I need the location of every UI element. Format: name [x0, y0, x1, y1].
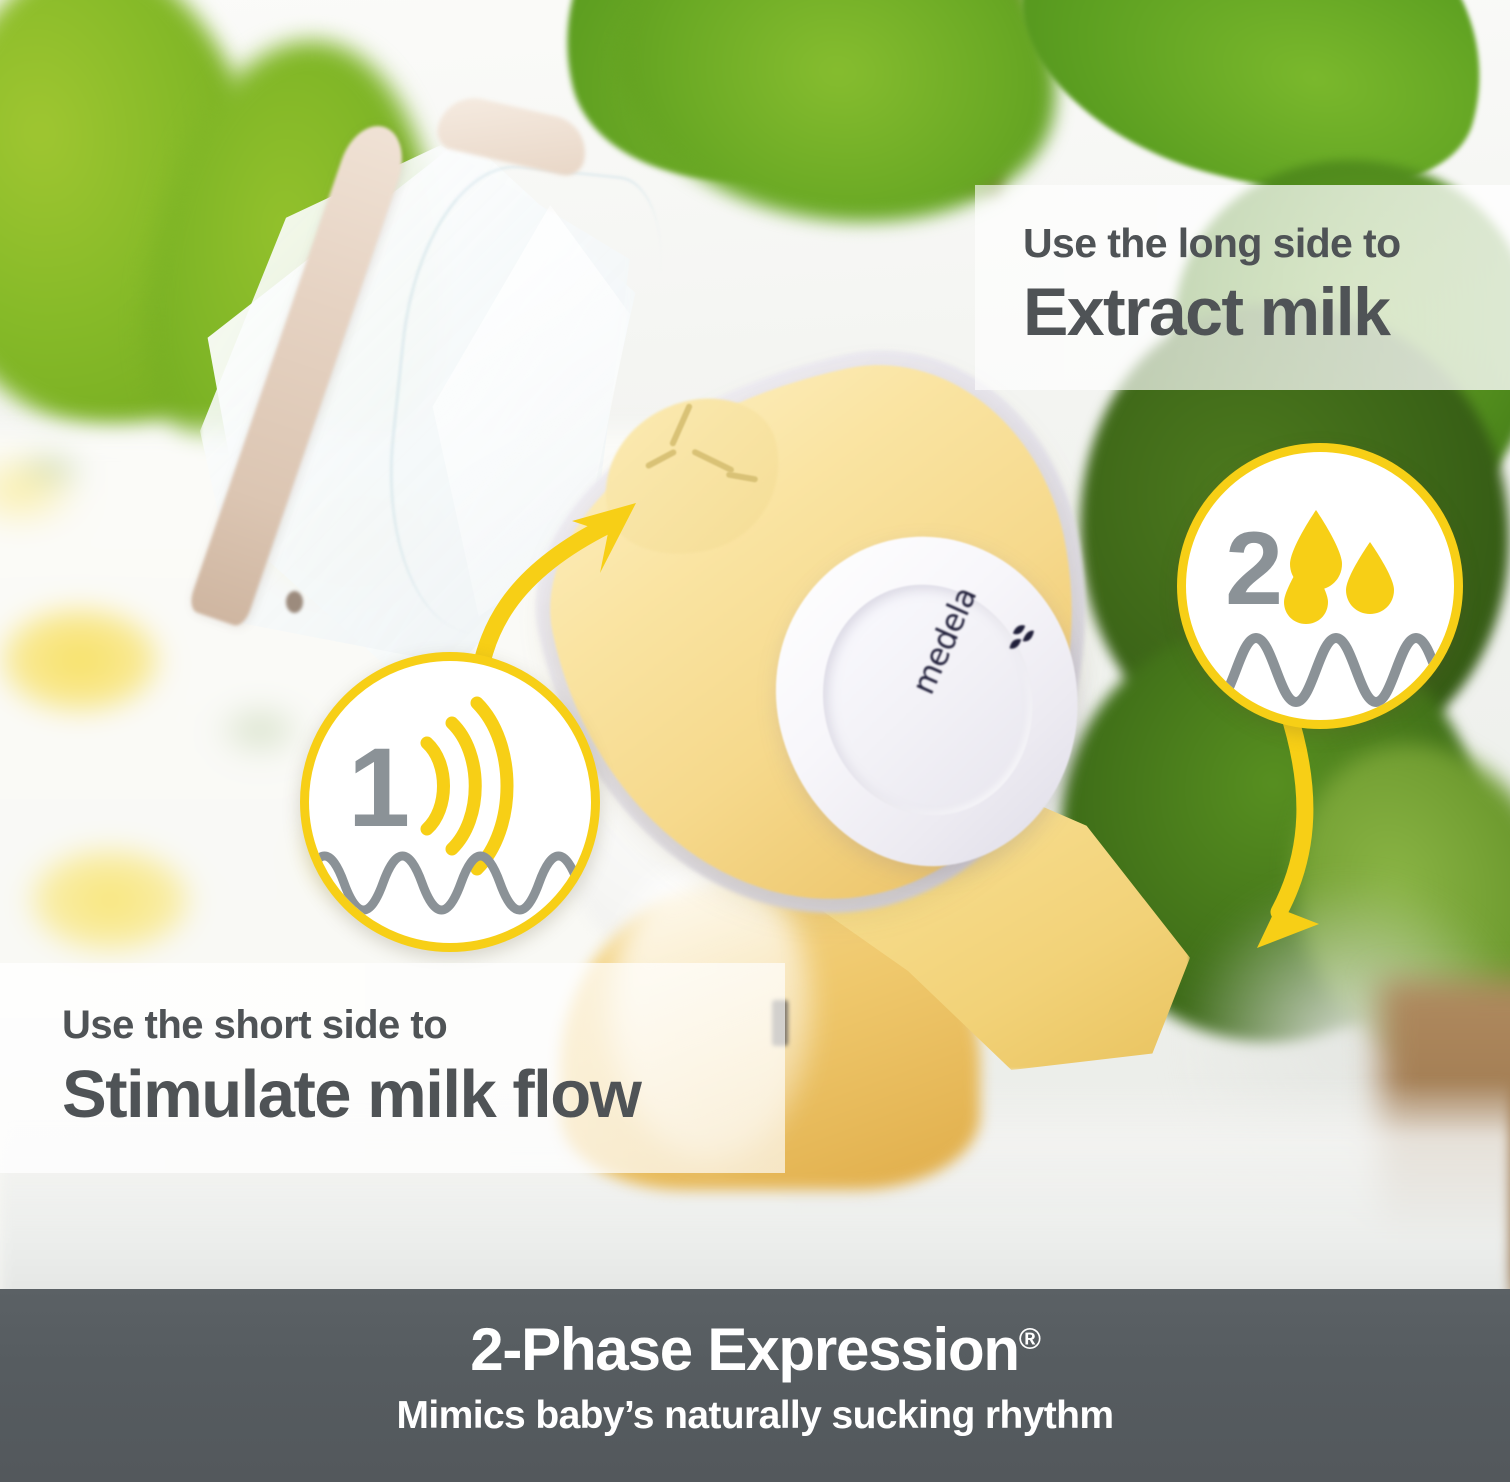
pump-handle: medela [540, 360, 1240, 1060]
milk-droplets-icon [1284, 510, 1394, 624]
badge-phase-2-number: 2 [1225, 511, 1283, 627]
callout-stimulate-line1: Use the short side to [62, 1005, 785, 1045]
slow-sine-wave [1186, 638, 1454, 702]
callout-extract-line2: Extract milk [1023, 278, 1510, 346]
badge-phase-1-graphic: 1 [309, 661, 591, 943]
handle-button-inner: medela [799, 562, 1057, 837]
badge-phase-1-number: 1 [348, 725, 410, 850]
footer-subtitle: Mimics baby’s naturally sucking rhythm [0, 1394, 1510, 1438]
badge-phase-2: 2 [1177, 443, 1463, 729]
callout-stimulate-line2: Stimulate milk flow [62, 1061, 785, 1128]
callout-stimulate-milk-flow: Use the short side to Stimulate milk flo… [0, 963, 785, 1173]
fast-sine-wave [309, 856, 591, 910]
callout-extract-line1: Use the long side to [1023, 223, 1510, 264]
shield-vent-hole [286, 591, 303, 613]
medela-wordmark: medela [905, 582, 984, 700]
badge-phase-1: 1 [300, 652, 600, 952]
sound-waves-icon [427, 703, 507, 869]
footer-title: 2-Phase Expression® [0, 1319, 1510, 1380]
callout-extract-milk: Use the long side to Extract milk [975, 185, 1510, 390]
product-infographic: medela 1 [0, 0, 1510, 1482]
footer-title-text: 2-Phase Expression [470, 1316, 1019, 1383]
medela-leaf-icon [1005, 621, 1041, 659]
registered-trademark-icon: ® [1019, 1323, 1040, 1356]
footer-banner: 2-Phase Expression® Mimics baby’s natura… [0, 1289, 1510, 1482]
badge-phase-2-graphic: 2 [1186, 452, 1454, 720]
